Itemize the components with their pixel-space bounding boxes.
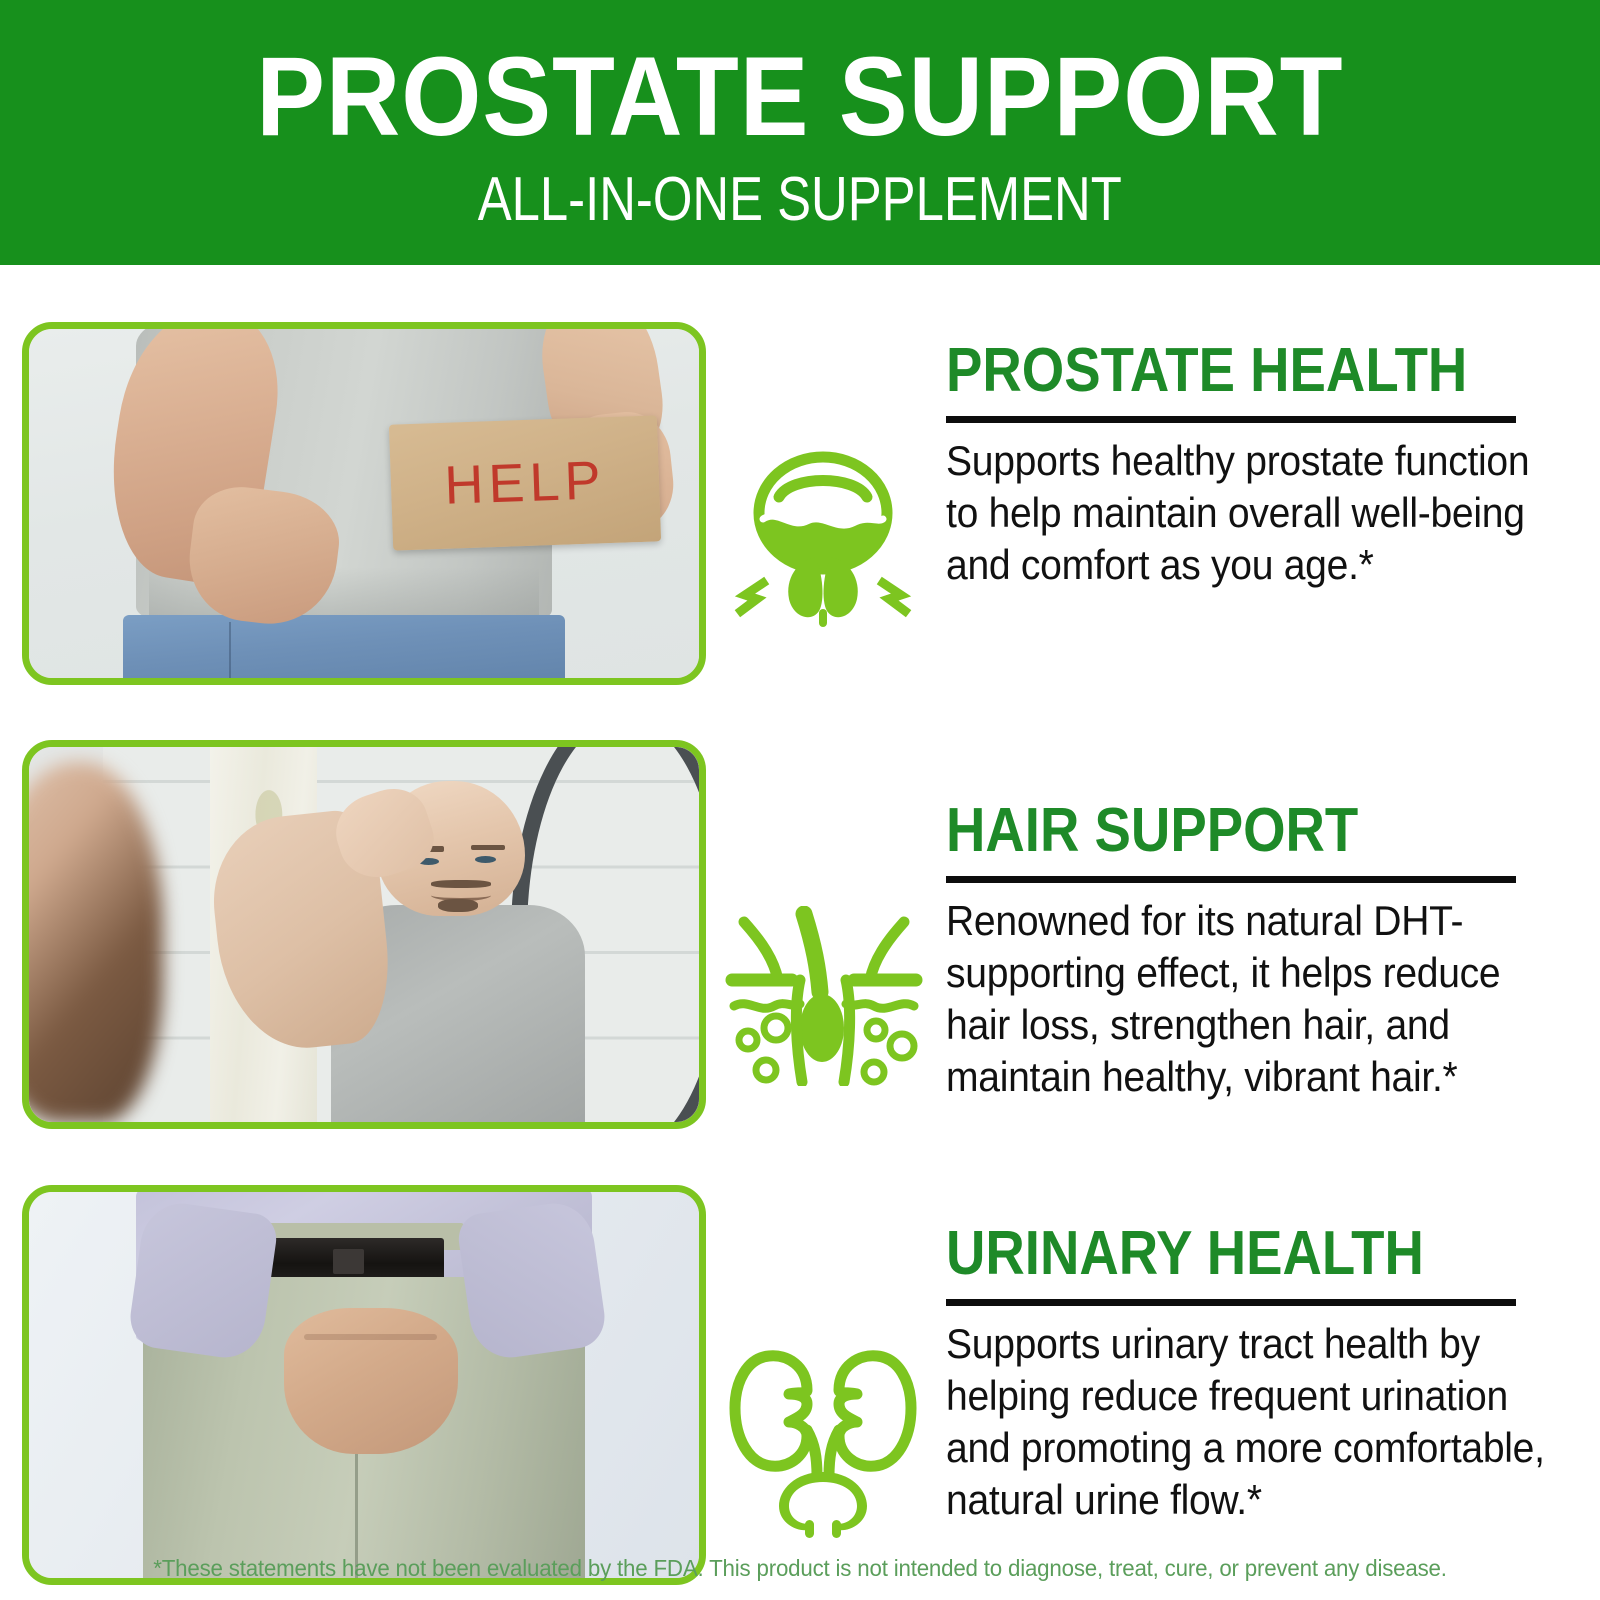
- prostate-bladder-icon: [716, 428, 930, 642]
- photo-brow-right: [471, 845, 505, 850]
- photo-sleeve-left: [127, 1199, 280, 1363]
- page-title: PROSTATE SUPPORT: [256, 41, 1343, 153]
- feature-title: PROSTATE HEALTH: [946, 340, 1522, 402]
- photo-jeans: [123, 615, 565, 678]
- feature-divider-rule: [946, 1299, 1516, 1306]
- hair-follicle-icon: [716, 904, 930, 1088]
- feature-body: Supports healthy prostate function to he…: [946, 435, 1554, 591]
- page-subtitle: ALL-IN-ONE SUPPLEMENT: [478, 169, 1122, 231]
- photo-card-urinary: [22, 1185, 706, 1585]
- photo-sleeve-right: [455, 1199, 608, 1363]
- man-holding-help-sign-photo: HELP: [29, 329, 699, 678]
- photo-card-hair: [22, 740, 706, 1129]
- header-banner: PROSTATE SUPPORT ALL-IN-ONE SUPPLEMENT: [0, 0, 1600, 265]
- feature-row-hair-support: HAIR SUPPORT Renowned for its natural DH…: [0, 740, 1600, 1129]
- help-sign-text: HELP: [443, 449, 606, 517]
- feature-list: HELP: [0, 265, 1600, 1545]
- feature-divider-rule: [946, 876, 1516, 883]
- photo-soul-patch: [438, 899, 478, 913]
- feature-body: Supports urinary tract health by helping…: [946, 1318, 1554, 1526]
- feature-title: URINARY HEALTH: [946, 1223, 1522, 1285]
- man-clutching-groin-photo: [29, 1192, 699, 1578]
- photo-card-prostate: HELP: [22, 322, 706, 685]
- feature-row-prostate-health: HELP: [0, 322, 1600, 685]
- feature-body: Renowned for its natural DHT-supporting …: [946, 895, 1554, 1103]
- feature-row-urinary-health: URINARY HEALTH Supports urinary tract he…: [0, 1185, 1600, 1585]
- photo-moustache: [431, 880, 491, 888]
- feature-text-hair-support: HAIR SUPPORT Renowned for its natural DH…: [946, 800, 1600, 1103]
- cardboard-help-sign: HELP: [389, 415, 661, 550]
- feature-divider-rule: [946, 416, 1516, 423]
- photo-clasped-hands: [284, 1308, 458, 1455]
- feature-text-urinary-health: URINARY HEALTH Supports urinary tract he…: [946, 1223, 1600, 1526]
- feature-title: HAIR SUPPORT: [946, 800, 1522, 862]
- feature-text-prostate-health: PROSTATE HEALTH Supports healthy prostat…: [946, 340, 1600, 591]
- infographic-page: PROSTATE SUPPORT ALL-IN-ONE SUPPLEMENT H…: [0, 0, 1600, 1600]
- photo-eye-right: [475, 856, 496, 863]
- balding-man-at-mirror-photo: [29, 747, 699, 1122]
- kidneys-bladder-icon: [716, 1331, 930, 1545]
- fda-disclaimer: *These statements have not been evaluate…: [24, 1555, 1576, 1582]
